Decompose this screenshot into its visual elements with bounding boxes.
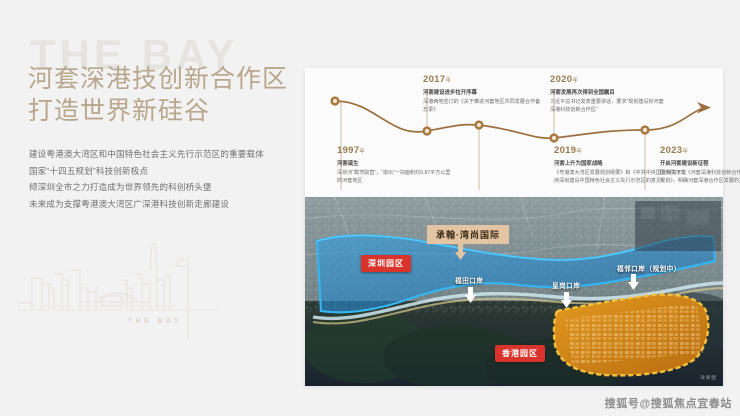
history-timeline: 1997年 河套诞生 深圳河“截弯取直”，“造出”一块面积约0.87平方公里的河…	[305, 68, 723, 198]
timeline-headline: 河套建设进步拉开序幕	[423, 89, 541, 97]
watermark: 搜狐号@搜狐焦点宜春站 搜狐号@搜狐焦点宜春站	[605, 395, 732, 411]
page-title-line-2: 打造世界新硅谷	[28, 95, 288, 127]
timeline-body: 深圳河“截弯取直”，“造出”一块面积约0.87平方公里的河套地区	[337, 169, 455, 185]
city-skyline-graphic	[18, 240, 218, 350]
slide-root: THE BAY 河套深港技创新合作区 打造世界新硅谷 建设粤港澳大湾区和中国特色…	[0, 0, 740, 416]
bullet-list: 建设粤港澳大湾区和中国特色社会主义先行示范区的重要载体 国家“十四五规划”科技创…	[29, 146, 264, 212]
timeline-headline: 开启河套建设新征程	[660, 160, 740, 168]
bullet-item: 倾深圳全市之力打造成为世界领先的科创桥头堡	[29, 179, 264, 196]
down-arrow-icon	[465, 287, 476, 303]
project-name-chip[interactable]: 承翰·湾尚国际	[427, 225, 509, 244]
timeline-entry-2023: 2023年 开启河套建设新征程 国务院印发《河套深港科技创新合作区深圳园区发展规…	[660, 145, 740, 185]
port-label-huanggang: 皇岗口岸	[552, 280, 580, 290]
timeline-entry-1997: 1997年 河套诞生 深圳河“截弯取直”，“造出”一块面积约0.87平方公里的河…	[337, 145, 455, 185]
timeline-entry-2020: 2020年 河套发展再次得到全国瞩目 习近平总书记发表重要讲话，要求“规划建设好…	[550, 74, 668, 114]
down-arrow-icon	[455, 244, 466, 260]
timeline-year: 2017年	[423, 74, 541, 87]
map-disclaimer: 效果图	[700, 375, 717, 381]
left-text-panel: THE BAY 河套深港技创新合作区 打造世界新硅谷 建设粤港澳大湾区和中国特色…	[0, 0, 300, 416]
aerial-map-image: 承翰·湾尚国际 深圳园区 香港园区 福田口岸 皇岗口岸 福邻口岸（规划中） 效果…	[305, 197, 723, 386]
right-content-card: 1997年 河套诞生 深圳河“截弯取直”，“造出”一块面积约0.87平方公里的河…	[305, 68, 723, 386]
watermark-text: 搜狐号@搜狐焦点宜春站	[605, 398, 732, 410]
hongkong-park-chip[interactable]: 香港园区	[495, 345, 545, 362]
port-label-futian: 福田口岸	[455, 275, 483, 285]
timeline-body: 习近平总书记发表重要讲话，要求“规划建设好河套深港科技创新合作区”	[550, 98, 668, 114]
down-arrow-icon	[628, 274, 639, 290]
port-label-fuqiang: 福邻口岸（规划中）	[617, 263, 681, 273]
shenzhen-park-chip[interactable]: 深圳园区	[361, 255, 411, 272]
timeline-year: 2023年	[660, 145, 740, 158]
skyline-caption: THE BAY	[128, 318, 182, 325]
timeline-year: 1997年	[337, 145, 455, 158]
bullet-item: 建设粤港澳大湾区和中国特色社会主义先行示范区的重要载体	[29, 146, 264, 163]
page-title: 河套深港技创新合作区 打造世界新硅谷	[28, 63, 288, 127]
timeline-headline: 河套发展再次得到全国瞩目	[550, 89, 668, 97]
timeline-body: 国务院印发《河套深港科技创新合作区深圳园区发展规划》，明确河套深港合作区发展的方…	[660, 169, 740, 185]
bullet-item: 国家“十四五规划”科技创新极点	[29, 163, 264, 180]
timeline-year: 2020年	[550, 74, 668, 87]
down-arrow-icon	[561, 292, 572, 308]
timeline-entry-2017: 2017年 河套建设进步拉开序幕 深港两地签订的《关于推进河套地区共同发展合作备…	[423, 74, 541, 114]
timeline-body: 深港两地签订的《关于推进河套地区共同发展合作备忘录》	[423, 98, 541, 114]
bullet-item: 未来成为支撑粤港澳大湾区广深港科技创新走廊建设	[29, 196, 264, 213]
timeline-headline: 河套诞生	[337, 160, 455, 168]
page-title-line-1: 河套深港技创新合作区	[28, 63, 288, 95]
